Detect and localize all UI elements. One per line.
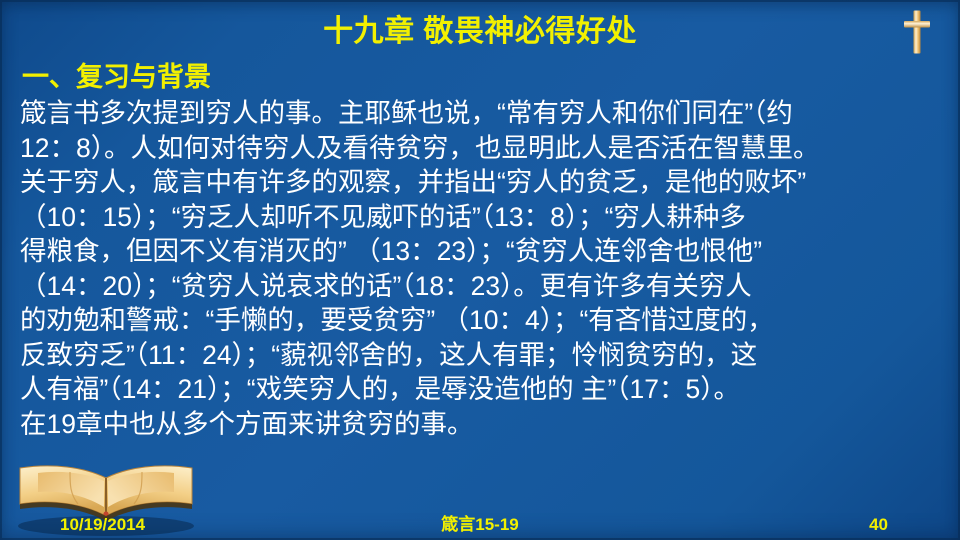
section-heading: 一、复习与背景 — [22, 60, 211, 94]
page-title: 十九章 敬畏神必得好处 — [0, 12, 960, 52]
body-line: 在19章中也从多个方面来讲贫穷的事。 — [20, 407, 950, 442]
body-line: 人有福”（14：21）；“戏笑穷人的，是辱没造他的 主”（17：5）。 — [20, 372, 950, 407]
body-line: （10：15）；“穷乏人却听不见威吓的话”（13：8）；“穷人耕种多 — [20, 200, 950, 235]
body-paragraph: 箴言书多次提到穷人的事。主耶稣也说，“常有穷人和你们同在”（约 12：8）。人如… — [20, 96, 950, 441]
body-line: 反致穷乏”（11：24）；“藐视邻舍的，这人有罪；怜悯贫穷的，这 — [20, 338, 950, 373]
body-line: 得粮食，但因不义有消灭的” （13：23）；“贫穷人连邻舍也恨他” — [20, 234, 950, 269]
body-line: 的劝勉和警戒：“手懒的，要受贫穷” （10：4）；“有吝惜过度的， — [20, 303, 950, 338]
body-line: 关于穷人，箴言中有许多的观察，并指出“穷人的贫乏，是他的败坏” — [20, 165, 950, 200]
presentation-slide: 十九章 敬畏神必得好处 一、复习与背景 箴言书多次提到穷人的事。主耶稣也说，“常… — [0, 0, 960, 540]
body-line: （14：20）；“贫穷人说哀求的话”（18：23）。更有许多有关穷人 — [20, 269, 950, 304]
body-line: 箴言书多次提到穷人的事。主耶稣也说，“常有穷人和你们同在”（约 — [20, 96, 950, 131]
cross-icon — [902, 9, 932, 55]
body-line: 12：8）。人如何对待穷人及看待贫穷，也显明此人是否活在智慧里。 — [20, 131, 950, 166]
footer-page-number: 40 — [869, 514, 888, 536]
footer-reference: 箴言15-19 — [0, 514, 960, 536]
